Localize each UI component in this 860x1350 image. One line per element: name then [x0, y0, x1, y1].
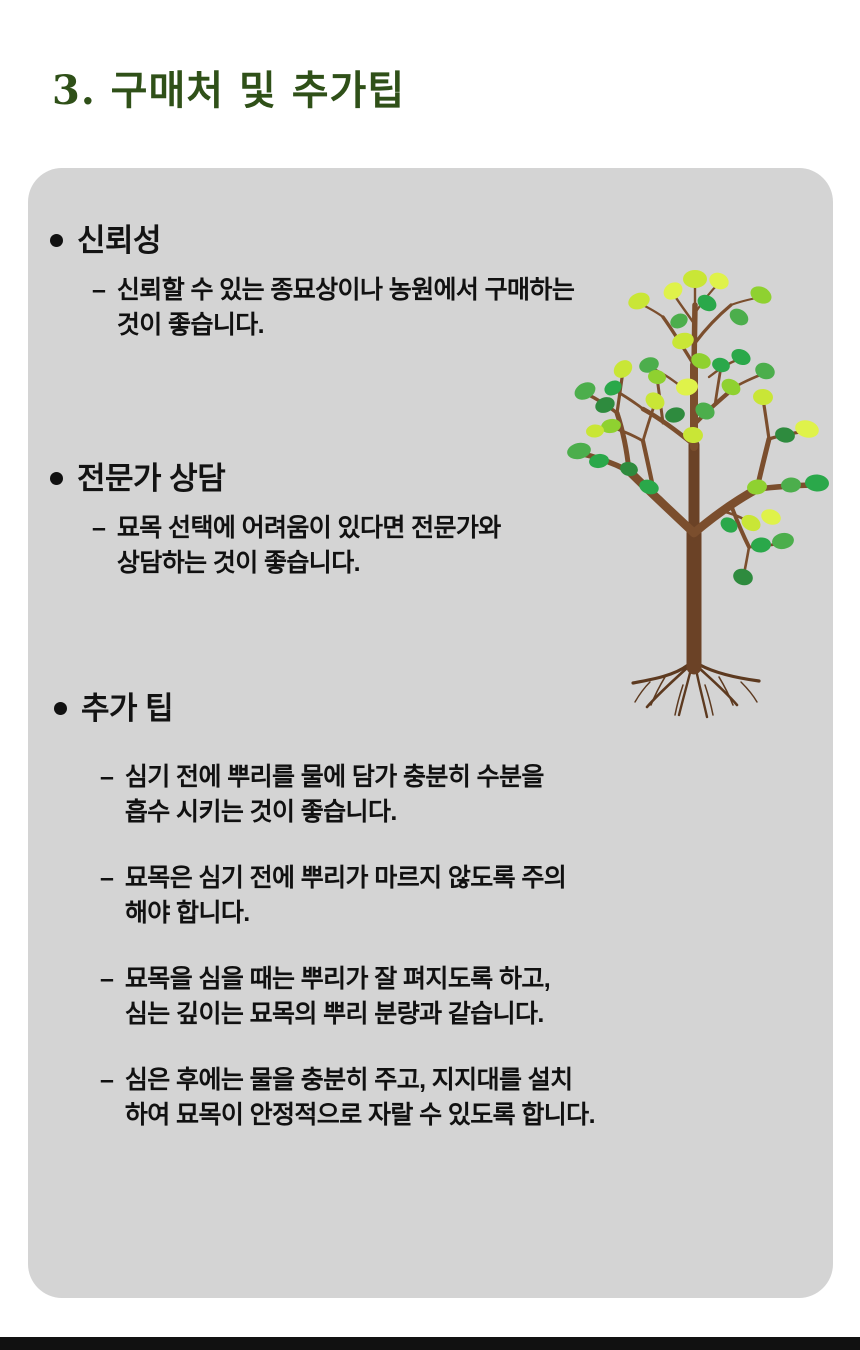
group-heading-row: 신뢰성	[28, 220, 833, 262]
group-heading-label: 전문가 상담	[77, 458, 225, 500]
bullet-group-expert-consultation: 전문가 상담 – 묘목 선택에 어려움이 있다면 전문가와 상담하는 것이 좋습…	[28, 458, 833, 582]
list-item-text: 묘목을 심을 때는 뿌리가 잘 펴지도록 하고, 심는 깊이는 묘목의 뿌리 분…	[125, 962, 550, 1033]
content-card: 신뢰성 – 신뢰할 수 있는 종묘상이나 농원에서 구매하는 것이 좋습니다. …	[28, 168, 833, 1298]
group-heading-row: 추가 팁	[28, 688, 833, 730]
group-heading-label: 신뢰성	[77, 220, 161, 262]
group-heading-label: 추가 팁	[81, 688, 173, 730]
bullet-dot-icon	[50, 472, 63, 485]
dash-marker-icon: –	[100, 760, 114, 796]
dash-marker-icon: –	[100, 861, 114, 897]
list-item-text: 신뢰할 수 있는 종묘상이나 농원에서 구매하는 것이 좋습니다.	[117, 273, 574, 344]
bullet-dot-icon	[54, 702, 67, 715]
list-item-text: 심은 후에는 물을 충분히 주고, 지지대를 설치 하여 묘목이 안정적으로 자…	[125, 1063, 595, 1134]
list-item-text: 묘목 선택에 어려움이 있다면 전문가와 상담하는 것이 좋습니다.	[117, 511, 501, 582]
page-title: 3. 구매처 및 추가팁	[52, 58, 405, 116]
dash-marker-icon: –	[100, 962, 114, 998]
group-heading-row: 전문가 상담	[28, 458, 833, 500]
bullet-group-extra-tips: 추가 팁 – 심기 전에 뿌리를 물에 담가 충분히 수분을 흡수 시키는 것이…	[28, 688, 833, 1134]
list-item: – 심기 전에 뿌리를 물에 담가 충분히 수분을 흡수 시키는 것이 좋습니다…	[28, 760, 833, 831]
dash-marker-icon: –	[100, 1063, 114, 1099]
dash-marker-icon: –	[92, 511, 106, 547]
list-item: – 묘목은 심기 전에 뿌리가 마르지 않도록 주의 해야 합니다.	[28, 861, 833, 932]
bullet-dot-icon	[50, 234, 63, 247]
bullet-group-reliability: 신뢰성 – 신뢰할 수 있는 종묘상이나 농원에서 구매하는 것이 좋습니다.	[28, 220, 833, 344]
list-item: – 심은 후에는 물을 충분히 주고, 지지대를 설치 하여 묘목이 안정적으로…	[28, 1063, 833, 1134]
slide-root: 3. 구매처 및 추가팁 신뢰성 – 신뢰할 수 있는 종묘상이나 농원에서 구…	[0, 0, 860, 1350]
list-item: – 신뢰할 수 있는 종묘상이나 농원에서 구매하는 것이 좋습니다.	[28, 273, 833, 344]
list-item: – 묘목을 심을 때는 뿌리가 잘 펴지도록 하고, 심는 깊이는 묘목의 뿌리…	[28, 962, 833, 1033]
dash-marker-icon: –	[92, 273, 106, 309]
list-item: – 묘목 선택에 어려움이 있다면 전문가와 상담하는 것이 좋습니다.	[28, 511, 833, 582]
bottom-decoration-bar	[0, 1337, 860, 1350]
list-item-text: 심기 전에 뿌리를 물에 담가 충분히 수분을 흡수 시키는 것이 좋습니다.	[125, 760, 544, 831]
list-item-text: 묘목은 심기 전에 뿌리가 마르지 않도록 주의 해야 합니다.	[125, 861, 566, 932]
